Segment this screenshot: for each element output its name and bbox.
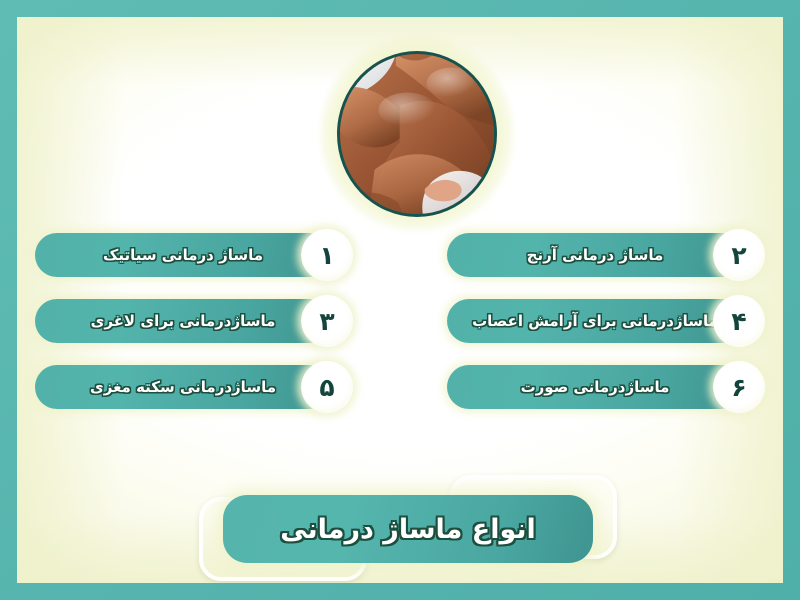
item-badge-5: ۵ [301,361,353,413]
item-label-1: ماساژ درمانی سیاتیک [103,246,263,264]
list-item-3[interactable]: ماساژدرمانی برای لاغری ۳ [35,295,353,347]
page-title: انواع ماساژ درمانی [280,514,536,545]
hero-image-container [320,37,514,231]
item-number-6: ۶ [731,375,746,400]
list-item-4[interactable]: ماساژدرمانی برای آرامش اعصاب ۴ [447,295,765,347]
poster-canvas: ماساژ درمانی آرنج ۲ ماساژ درمانی سیاتیک … [17,17,783,583]
item-number-2: ۲ [731,243,746,268]
item-number-5: ۵ [319,375,334,400]
massage-photo-icon [337,51,497,217]
item-pill-1[interactable]: ماساژ درمانی سیاتیک [35,233,331,277]
list-row: ماساژدرمانی برای آرامش اعصاب ۴ ماساژدرما… [17,295,783,347]
item-label-2: ماساژ درمانی آرنج [527,246,664,264]
title-banner-container: انواع ماساژ درمانی [193,475,623,581]
item-pill-6[interactable]: ماساژدرمانی صورت [447,365,743,409]
item-badge-2: ۲ [713,229,765,281]
item-number-3: ۳ [319,309,334,334]
list-row: ماساژ درمانی آرنج ۲ ماساژ درمانی سیاتیک … [17,229,783,281]
list-item-6[interactable]: ماساژدرمانی صورت ۶ [447,361,765,413]
item-label-3: ماساژدرمانی برای لاغری [91,312,276,330]
item-label-6: ماساژدرمانی صورت [521,378,670,396]
list-item-1[interactable]: ماساژ درمانی سیاتیک ۱ [35,229,353,281]
item-label-4: ماساژدرمانی برای آرامش اعصاب [472,312,718,330]
item-pill-2[interactable]: ماساژ درمانی آرنج [447,233,743,277]
item-badge-6: ۶ [713,361,765,413]
infographic-poster: ماساژ درمانی آرنج ۲ ماساژ درمانی سیاتیک … [0,0,800,600]
item-number-1: ۱ [319,243,334,268]
title-banner: انواع ماساژ درمانی [223,495,593,563]
list-item-5[interactable]: ماساژدرمانی سکته مغزی ۵ [35,361,353,413]
item-pill-5[interactable]: ماساژدرمانی سکته مغزی [35,365,331,409]
item-pill-3[interactable]: ماساژدرمانی برای لاغری [35,299,331,343]
list-item-2[interactable]: ماساژ درمانی آرنج ۲ [447,229,765,281]
list-row: ماساژدرمانی صورت ۶ ماساژدرمانی سکته مغزی… [17,361,783,413]
item-pill-4[interactable]: ماساژدرمانی برای آرامش اعصاب [447,299,743,343]
item-badge-4: ۴ [713,295,765,347]
item-badge-1: ۱ [301,229,353,281]
item-label-5: ماساژدرمانی سکته مغزی [90,378,276,396]
item-badge-3: ۳ [301,295,353,347]
item-number-4: ۴ [731,309,746,334]
massage-types-list: ماساژ درمانی آرنج ۲ ماساژ درمانی سیاتیک … [17,229,783,427]
